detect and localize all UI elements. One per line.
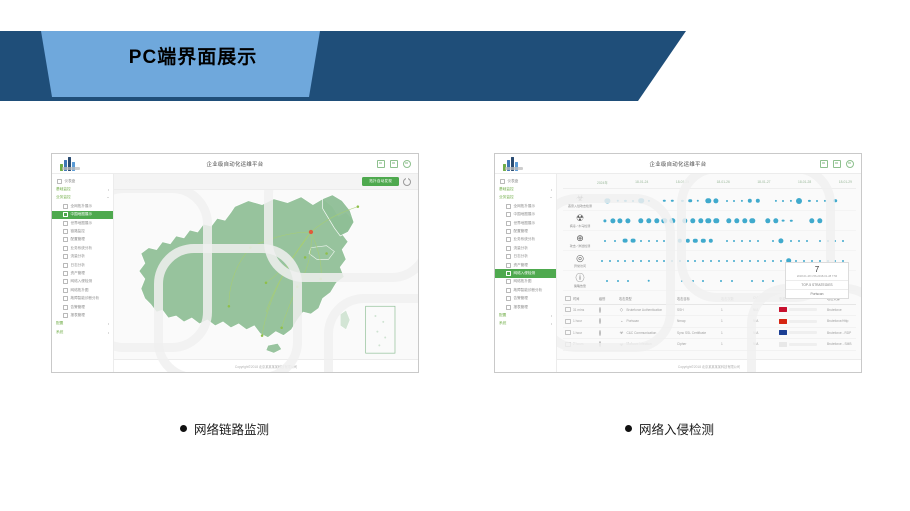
cell-target: Sync SSL Certificate [677, 331, 721, 335]
right-content: 2024年18-01-2418-01-2518-01-2618-01-2718-… [557, 174, 861, 372]
china-map-container[interactable] [114, 189, 418, 360]
sidebar-item-label: 业务系统分析 [71, 246, 93, 251]
menu-dot-icon [506, 254, 511, 259]
virus-icon: ☢ [576, 214, 585, 223]
sidebar-item-label: 中国地图展示 [71, 212, 93, 217]
left-sidebar[interactable]: 仪表盘基础监控业务监控全网拓扑展示中国地图展示世界地图展示链路监控配置管理业务系… [52, 174, 114, 372]
timeline-bubble[interactable] [762, 280, 764, 282]
taiwan-island-shape [340, 310, 350, 330]
cell-level [599, 342, 619, 346]
cell-type-label: Bruteforce Authentication [627, 308, 663, 312]
timeline-bubble[interactable] [809, 218, 814, 223]
sidebar-item-label: 配置 [56, 321, 63, 326]
menu-dot-icon [506, 229, 511, 234]
timeline-bubble[interactable] [772, 240, 774, 242]
table-row[interactable]: 2 hours☣Malware InfectionCipher1N/ABrute… [563, 339, 856, 351]
cell-type-label: C&C Communication [627, 331, 657, 335]
cell-source [779, 319, 827, 324]
left-app-header: 企业级自动化运维平台 [52, 154, 418, 174]
timeline-bubble[interactable] [627, 280, 629, 282]
timeline-bubble[interactable] [687, 260, 689, 262]
timeline-bubble[interactable] [678, 238, 682, 242]
fullscreen-icon[interactable] [833, 160, 841, 168]
sidebar-item-17[interactable]: 系统 [495, 320, 556, 328]
cell-count: 1 [721, 319, 753, 323]
sidebar-item-1[interactable]: 基础监控 [52, 185, 113, 193]
sidebar-item-9[interactable]: 日志分析 [495, 253, 556, 261]
sidebar-item-label: 网络入侵检测 [71, 279, 93, 284]
timeline-row-name-0: 恶意入侵攻击检测 [568, 204, 592, 208]
sidebar-item-0[interactable]: 仪表盘 [495, 177, 556, 185]
sidebar-item-1[interactable]: 基础监控 [495, 185, 556, 193]
timeline-row-1[interactable]: ☢病毒 / 木马检测 [563, 211, 856, 231]
timeline-bubble[interactable] [624, 260, 626, 262]
cell-level [599, 331, 619, 335]
diamond-icon: ◇ [619, 307, 624, 312]
cell-source [779, 307, 827, 312]
sidebar-item-2[interactable]: 业务监控 [495, 194, 556, 202]
timeline-bubble[interactable] [671, 260, 673, 262]
bullet-icon [180, 425, 187, 432]
table-row[interactable]: 1 hour☣C&C CommunicationSync SSL Certifi… [563, 328, 856, 340]
timeline-bubble[interactable] [757, 260, 759, 262]
timeline-bubble[interactable] [726, 200, 728, 202]
sidebar-item-label: 全网拓扑展示 [71, 204, 93, 209]
sidebar-item-label: 世界地图展示 [514, 221, 536, 226]
timeline-bubble[interactable] [706, 198, 711, 203]
right-app-header: 企业级自动化运维平台 [495, 154, 861, 174]
message-icon[interactable] [820, 160, 828, 168]
sidebar-item-12[interactable]: 网络入侵检测 [52, 278, 113, 286]
row-checkbox[interactable] [563, 319, 573, 324]
timeline-bubble[interactable] [775, 199, 777, 201]
timeline-bubble[interactable] [640, 240, 642, 242]
timeline-bubble[interactable] [698, 218, 703, 223]
sidebar-item-2[interactable]: 业务监控 [52, 194, 113, 202]
hainan-island-shape [266, 343, 282, 353]
timeline-bubble[interactable] [632, 200, 634, 202]
sidebar-item-3[interactable]: 全网拓扑展示 [495, 202, 556, 210]
timeline-bubble[interactable] [765, 218, 770, 223]
cell-time: 1 hour [573, 319, 599, 323]
date-tick-4: 18-01-27 [757, 180, 770, 185]
timeline-bubble[interactable] [757, 240, 759, 242]
sidebar-item-9[interactable]: 流量分析 [52, 253, 113, 261]
timeline-bubble[interactable] [808, 199, 810, 201]
timeline-bubble[interactable] [782, 219, 785, 222]
timeline-bubble[interactable] [617, 199, 619, 201]
cell-type: ☣C&C Communication [619, 330, 677, 335]
sidebar-item-label: 业务系统分析 [514, 237, 536, 242]
timeline-bubble[interactable] [702, 280, 704, 282]
caption-left-label: 网络链路监测 [194, 419, 269, 438]
timeline-bubble[interactable] [605, 198, 610, 203]
menu-dot-icon [506, 279, 511, 284]
sidebar-item-10[interactable]: 日志分析 [52, 261, 113, 269]
cell-count: 1 [721, 331, 753, 335]
source-ip-masked [789, 343, 817, 346]
row-checkbox[interactable] [563, 330, 573, 335]
date-tick-5: 18-01-28 [798, 180, 811, 185]
sidebar-item-6[interactable]: 配置管理 [495, 227, 556, 235]
sidebar-item-11[interactable]: 网络入侵检测 [495, 269, 556, 277]
timeline-bubble[interactable] [690, 218, 695, 223]
timeline-bubble[interactable] [669, 218, 674, 223]
sidebar-item-10[interactable]: 资产管理 [495, 261, 556, 269]
timeline-row-label-4: ⓘ策略告警 [563, 274, 597, 288]
tooltip-value: Portscan [786, 290, 848, 298]
tooltip-header: TOP-5 STRATEGIES [786, 281, 848, 290]
timeline-bubble[interactable] [679, 260, 681, 262]
timeline-bubble[interactable] [780, 260, 782, 262]
sidebar-item-label: 告警管理 [514, 296, 528, 301]
timeline-bubble[interactable] [701, 238, 705, 242]
date-tick-3: 18-01-26 [717, 180, 730, 185]
bullet-icon [625, 425, 632, 432]
sidebar-item-14[interactable]: 故障智能诊断分析 [52, 294, 113, 302]
timeline-bubble[interactable] [656, 260, 658, 262]
timeline-bubble[interactable] [816, 200, 818, 202]
cell-type: ◇Bruteforce Authentication [619, 307, 677, 312]
sidebar-item-0[interactable]: 仪表盘 [52, 177, 113, 185]
timeline-bubble[interactable] [654, 218, 659, 223]
timeline-bubble[interactable] [726, 240, 728, 242]
timeline-bubble[interactable] [692, 280, 694, 282]
menu-dot-icon [63, 204, 68, 209]
timeline-bubble[interactable] [718, 260, 720, 262]
power-icon[interactable] [846, 160, 854, 168]
menu-dot-icon [63, 296, 68, 301]
cell-target: Nmap [677, 319, 721, 323]
timeline-bubble[interactable] [733, 240, 735, 242]
date-tick-1: 18-01-24 [635, 180, 648, 185]
sidebar-item-label: 基础监控 [499, 187, 514, 192]
timeline-bubble[interactable] [751, 280, 753, 282]
timeline-bubble[interactable] [833, 199, 837, 203]
timeline-bubble[interactable] [694, 260, 696, 262]
timeline-bubble[interactable] [610, 218, 615, 223]
right-app-header-icons [820, 160, 854, 168]
sidebar-item-15[interactable]: 报表管理 [495, 303, 556, 311]
timeline-bubble[interactable] [782, 200, 784, 202]
clock-icon: ◔ [619, 319, 624, 324]
menu-dot-icon [500, 179, 505, 184]
timeline-row-label-1: ☢病毒 / 木马检测 [563, 214, 597, 228]
timeline-bubble[interactable] [790, 240, 792, 242]
message-icon[interactable] [377, 160, 385, 168]
timeline-bubble[interactable] [697, 199, 699, 201]
table-row[interactable]: 1 hour◔PortscanNmap1N/ABruteforce/Http [563, 316, 856, 328]
cell-type-label: Portscan [627, 319, 640, 323]
timeline-bubble[interactable] [741, 240, 743, 242]
timeline-bubble[interactable] [741, 260, 743, 262]
timeline-bubble[interactable] [817, 218, 822, 223]
cell-level [599, 308, 619, 312]
timeline-bubble[interactable] [614, 240, 616, 242]
timeline-bubble[interactable] [806, 240, 808, 242]
col-target[interactable]: 攻击目标 [677, 296, 721, 301]
sidebar-item-6[interactable]: 链路监控 [52, 227, 113, 235]
sidebar-item-13[interactable]: 故障智能诊断分析 [495, 286, 556, 294]
source-ip-masked [789, 320, 817, 323]
timeline-bubble[interactable] [606, 280, 608, 282]
refresh-icon[interactable] [403, 178, 411, 186]
sidebar-item-label: 系统 [499, 321, 506, 326]
sidebar-item-16[interactable]: 报表管理 [52, 311, 113, 319]
timeline-bubble[interactable] [824, 199, 826, 201]
timeline-bubble[interactable] [601, 260, 603, 262]
left-content: 拓扑自动发现 [114, 174, 418, 372]
timeline-bubble[interactable] [714, 198, 719, 203]
sidebar-item-11[interactable]: 资产管理 [52, 269, 113, 277]
timeline-bubble[interactable] [681, 280, 683, 282]
timeline-bubble[interactable] [796, 198, 802, 204]
timeline-bubble[interactable] [713, 218, 718, 223]
sidebar-item-label: 业务监控 [56, 195, 71, 200]
timeline-bubble[interactable] [623, 238, 628, 243]
cell-source [779, 330, 827, 335]
sidebar-item-5[interactable]: 世界地图展示 [52, 219, 113, 227]
timeline-bubble[interactable] [671, 199, 673, 201]
left-footer: Copyright©2018 北京某某某某科技有限公司 [114, 359, 418, 372]
timeline-bubble[interactable] [733, 260, 735, 262]
timeline-bubble[interactable] [741, 199, 743, 201]
menu-dot-icon [506, 263, 511, 268]
sidebar-item-3[interactable]: 全网拓扑展示 [52, 202, 113, 210]
timeline-bubble[interactable] [640, 260, 642, 262]
timeline-bubble[interactable] [662, 218, 667, 223]
sidebar-item-13[interactable]: 网络拓扑图 [52, 286, 113, 294]
timeline-bubble[interactable] [702, 260, 704, 262]
timeline-bubble[interactable] [726, 218, 731, 223]
cell-type: ☣Malware Infection [619, 342, 677, 347]
timeline-bubble[interactable] [631, 238, 636, 243]
sidebar-item-label: 故障智能诊断分析 [514, 288, 543, 293]
timeline-bubble[interactable] [663, 199, 665, 201]
sidebar-item-12[interactable]: 网络拓扑图 [495, 278, 556, 286]
menu-dot-icon [63, 288, 68, 293]
timeline-bubble[interactable] [748, 198, 752, 202]
sidebar-item-label: 告警管理 [71, 305, 85, 310]
menu-dot-icon [63, 237, 68, 242]
southsea-inset-dots [374, 315, 386, 346]
select-all-checkbox[interactable] [563, 296, 573, 301]
timeline-bubble[interactable] [617, 280, 619, 282]
sidebar-item-8[interactable]: 业务系统分析 [52, 244, 113, 252]
right-sidebar[interactable]: 仪表盘基础监控业务监控全网拓扑展示中国地图展示世界地图展示配置管理业务系统分析流… [495, 174, 557, 372]
timeline-bubble[interactable] [742, 218, 747, 223]
timeline-bubble[interactable] [638, 218, 643, 223]
cell-type: ◔Portscan [619, 319, 677, 324]
sidebar-item-7[interactable]: 业务系统分析 [495, 236, 556, 244]
menu-dot-icon [506, 221, 511, 226]
timeline-bubble[interactable] [625, 218, 630, 223]
timeline-bubble[interactable] [842, 240, 844, 242]
timeline-track-0[interactable] [597, 191, 856, 210]
timeline-bubble[interactable] [731, 280, 733, 282]
sidebar-item-label: 资产管理 [71, 271, 85, 276]
timeline-bubble[interactable] [710, 260, 712, 262]
menu-dot-icon [506, 237, 511, 242]
screenshot-panel-left: 企业级自动化运维平台 仪表盘基础监控业务监控全网拓扑展示中国地图展示世界地图展示… [51, 153, 419, 373]
tooltip-count: 7 [786, 263, 848, 275]
timeline-bubble[interactable] [706, 218, 711, 223]
timeline-bubble[interactable] [663, 260, 665, 262]
timeline-bubble[interactable] [790, 219, 792, 221]
row-checkbox[interactable] [563, 342, 573, 347]
timeline-bubble[interactable] [688, 199, 692, 203]
timeline-bubble[interactable] [773, 218, 778, 223]
sidebar-item-15[interactable]: 告警管理 [52, 303, 113, 311]
sidebar-item-17[interactable]: 配置 [52, 320, 113, 328]
target-icon: ⊕ [576, 234, 585, 243]
cell-type-label: Malware Infection [627, 342, 652, 346]
timeline-bubble[interactable] [726, 260, 728, 262]
timeline-row-2[interactable]: ⊕攻击 / 渗透检测 [563, 231, 856, 251]
timeline-bubble[interactable] [604, 240, 606, 242]
timeline-bubble[interactable] [819, 240, 821, 242]
timeline-row-label-0: ☣恶意入侵攻击检测 [563, 194, 597, 208]
timeline-bubble[interactable] [772, 280, 774, 282]
menu-dot-icon [57, 179, 62, 184]
sidebar-item-label: 网络拓扑图 [514, 279, 532, 284]
sidebar-item-7[interactable]: 配置管理 [52, 236, 113, 244]
cell-target: SSH [677, 308, 721, 312]
timeline-bubble[interactable] [827, 240, 829, 242]
left-app-body: 仪表盘基础监控业务监控全网拓扑展示中国地图展示世界地图展示链路监控配置管理业务系… [52, 174, 418, 372]
timeline-bubble[interactable] [772, 260, 774, 262]
sidebar-item-label: 配置管理 [514, 229, 528, 234]
timeline-bubble[interactable] [790, 199, 792, 201]
timeline-row-name-2: 攻击 / 渗透检测 [570, 244, 591, 248]
cell-level [599, 319, 619, 323]
col-type[interactable]: 攻击类型 [619, 296, 677, 301]
timeline-bubble[interactable] [663, 240, 665, 242]
table-row[interactable]: 31 mins◇Bruteforce AuthenticationSSH1N/A… [563, 305, 856, 317]
timeline-track-2[interactable] [597, 231, 856, 250]
sidebar-item-4[interactable]: 中国地图展示 [52, 211, 113, 219]
timeline-bubble[interactable] [681, 199, 683, 201]
southsea-inset-box [366, 306, 395, 353]
bug-icon: ☣ [619, 330, 624, 335]
sidebar-item-label: 仪表盘 [65, 179, 76, 184]
timeline-bubble[interactable] [618, 218, 623, 223]
timeline-bubble[interactable] [603, 219, 606, 222]
sidebar-item-label: 资产管理 [514, 263, 528, 268]
timeline-bubble[interactable] [617, 260, 619, 262]
timeline-bubble[interactable] [656, 240, 658, 242]
col-count[interactable]: 攻击次数 [721, 296, 753, 301]
sidebar-item-label: 报表管理 [71, 313, 85, 318]
timeline-bubble[interactable] [638, 198, 644, 204]
severity-ring-icon [599, 307, 601, 313]
right-footer: Copyright©2018 北京某某某某科技有限公司 [557, 359, 861, 372]
timeline-bubble[interactable] [749, 240, 751, 242]
cell-count: 1 [721, 308, 753, 312]
date-tick-0: 2024年 [597, 180, 608, 185]
menu-dot-icon [63, 221, 68, 226]
timeline-bubble[interactable] [624, 199, 626, 201]
timeline-bubble[interactable] [648, 260, 650, 262]
alerts-table: 时间 级别 攻击类型 攻击目标 攻击次数 CVE 来源 攻击来源 31 mins… [563, 293, 856, 351]
ids-dashboard: 2024年18-01-2418-01-2518-01-2618-01-2718-… [557, 174, 861, 360]
timeline-bubble[interactable] [648, 199, 650, 201]
sidebar-item-14[interactable]: 告警管理 [495, 294, 556, 302]
power-icon[interactable] [403, 160, 411, 168]
timeline-bubble[interactable] [798, 240, 800, 242]
right-app-window: 企业级自动化运维平台 仪表盘基础监控业务监控全网拓扑展示中国地图展示世界地图展示… [495, 154, 861, 372]
timeline-bubble[interactable] [646, 218, 651, 223]
timeline-bubble[interactable] [734, 218, 739, 223]
timeline-bubble[interactable] [648, 279, 651, 282]
timeline-bubble[interactable] [834, 240, 836, 242]
menu-dot-icon [506, 288, 511, 293]
menu-dot-icon [63, 279, 68, 284]
sidebar-item-18[interactable]: 系统 [52, 328, 113, 336]
severity-ring-icon [599, 330, 601, 336]
fullscreen-icon[interactable] [390, 160, 398, 168]
timeline-date-axis: 2024年18-01-2418-01-2518-01-2618-01-2718-… [563, 178, 856, 189]
topology-discover-button[interactable]: 拓扑自动发现 [362, 177, 399, 186]
timeline-bubble[interactable] [749, 260, 751, 262]
timeline-bubble[interactable] [693, 238, 697, 242]
sidebar-item-8[interactable]: 流量分析 [495, 244, 556, 252]
timeline-bubble[interactable] [648, 240, 650, 242]
cell-cve: N/A [753, 331, 779, 335]
timeline-bubble[interactable] [632, 260, 634, 262]
menu-dot-icon [506, 204, 511, 209]
menu-dot-icon [506, 296, 511, 301]
cell-count: 1 [721, 342, 753, 346]
menu-dot-icon [63, 212, 68, 217]
slide-root: PC端界面展示 企业级自动化运维平台 仪表盘基础监控业务监控全网拓扑展示中国地图… [0, 0, 910, 511]
timeline-bubble[interactable] [733, 200, 735, 202]
sidebar-item-label: 报表管理 [514, 305, 528, 310]
menu-dot-icon [63, 254, 68, 259]
cell-attack-source: Bruteforce - RDP [827, 331, 856, 335]
timeline-bubble[interactable] [685, 238, 689, 242]
sidebar-item-16[interactable]: 配置 [495, 311, 556, 319]
sidebar-item-5[interactable]: 世界地图展示 [495, 219, 556, 227]
sidebar-item-label: 链路监控 [71, 229, 85, 234]
timeline-row-name-4: 策略告警 [574, 284, 586, 288]
timeline-bubble[interactable] [609, 260, 611, 262]
timeline-track-1[interactable] [597, 211, 856, 230]
sidebar-item-label: 系统 [56, 330, 63, 335]
timeline-row-0[interactable]: ☣恶意入侵攻击检测 [563, 191, 856, 211]
menu-dot-icon [63, 246, 68, 251]
left-app-window: 企业级自动化运维平台 仪表盘基础监控业务监控全网拓扑展示中国地图展示世界地图展示… [52, 154, 418, 372]
col-level[interactable]: 级别 [599, 296, 619, 301]
cell-attack-source: Bruteforce/Http [827, 319, 856, 323]
timeline-bubble[interactable] [764, 260, 766, 262]
menu-dot-icon [506, 212, 511, 217]
timeline-bubble[interactable] [720, 280, 722, 282]
severity-ring-icon [599, 318, 601, 324]
timeline-bubble[interactable] [682, 218, 687, 223]
china-map-svg[interactable] [114, 189, 418, 360]
sidebar-item-4[interactable]: 中国地图展示 [495, 211, 556, 219]
timeline-bubble[interactable] [709, 238, 713, 242]
sidebar-item-label: 日志分析 [71, 263, 85, 268]
timeline-bubble[interactable] [750, 218, 755, 223]
timeline-bubble[interactable] [755, 198, 759, 202]
col-cve[interactable]: CVE [753, 296, 779, 300]
col-time[interactable]: 时间 [573, 296, 599, 301]
timeline-bubble[interactable] [778, 238, 783, 243]
row-checkbox[interactable] [563, 307, 573, 312]
table-body[interactable]: 31 mins◇Bruteforce AuthenticationSSH1N/A… [563, 305, 856, 351]
